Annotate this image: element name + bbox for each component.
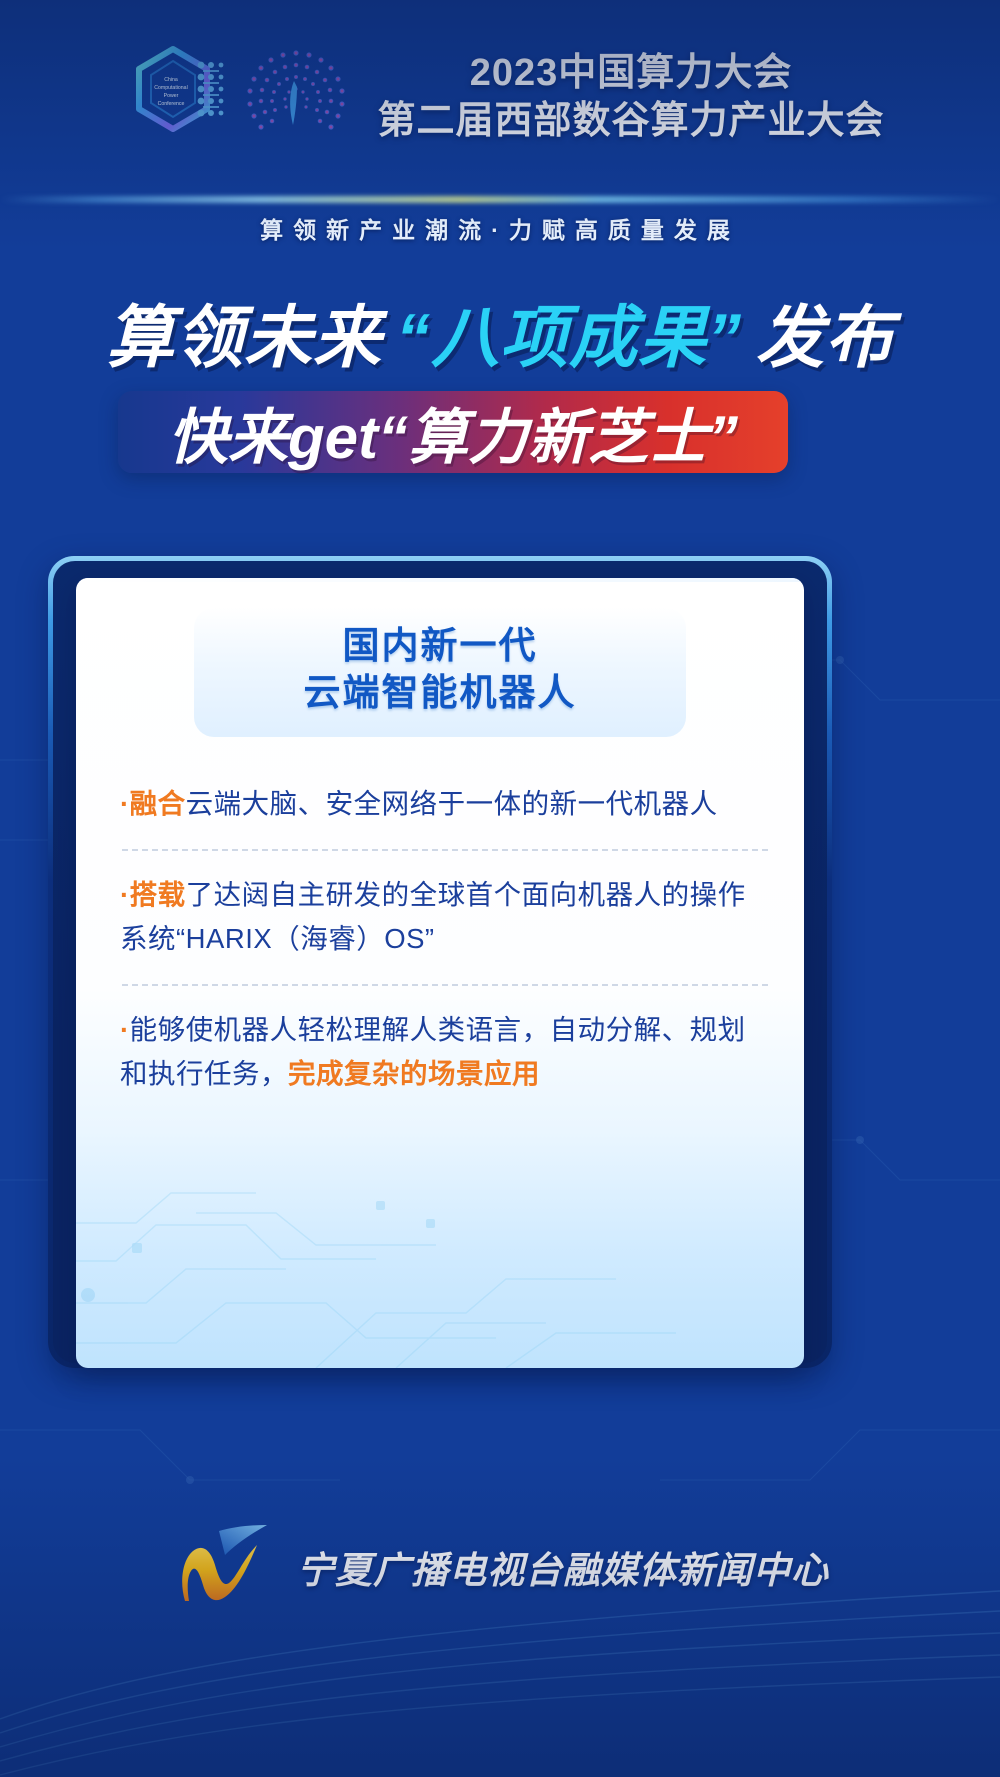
bullet-dot-1: · xyxy=(120,788,130,819)
headline-part-1: 算领未来 xyxy=(106,282,382,381)
card-title-line1: 国内新一代 xyxy=(194,622,686,669)
bullet-item-3: ·能够使机器人轻松理解人类语言，自动分解、规划和执行任务，完成复杂的场景应用 xyxy=(120,986,770,1119)
bullet-dot-2: · xyxy=(120,879,130,910)
headline-row-2-wrapper: 快来get“算力新芝士” xyxy=(118,391,788,473)
bullet-item-2: ·搭载了达闼自主研发的全球首个面向机器人的操作系统“HARIX（海睿）OS” xyxy=(120,851,770,984)
headline-part-3: 发布 xyxy=(756,282,894,381)
card-title-line2: 云端智能机器人 xyxy=(194,669,686,716)
slogan-glow-line xyxy=(0,196,1000,203)
bullet-text-2: 了达闼自主研发的全球首个面向机器人的操作系统“HARIX（海睿）OS” xyxy=(120,879,746,953)
slogan-bar: 算领新产业潮流·力赋高质量发展 xyxy=(0,196,1000,252)
card-title-pill: 国内新一代 云端智能机器人 xyxy=(194,608,686,737)
masthead-title-line1: 2023中国算力大会 xyxy=(470,50,793,98)
bullet-text-1: 云端大脑、安全网络于一体的新一代机器人 xyxy=(186,788,718,819)
bullet-highlight-1: 融合 xyxy=(130,788,186,819)
result-card: 国内新一代 云端智能机器人 ·融合云端大脑、安全网络于一体的新一代机器人 ·搭载… xyxy=(76,578,804,1368)
masthead: China Computational Power Conference xyxy=(0,0,1000,195)
bullet-item-1: ·融合云端大脑、安全网络于一体的新一代机器人 xyxy=(120,760,770,849)
svg-text:Conference: Conference xyxy=(158,101,185,107)
china-computational-power-conference-logo: China Computational Power Conference xyxy=(115,39,233,157)
masthead-title: 2023中国算力大会 第二届西部数谷算力产业大会 xyxy=(377,50,884,145)
svg-text:Computational: Computational xyxy=(155,85,188,91)
masthead-title-line2: 第二届西部数谷算力产业大会 xyxy=(377,98,884,146)
ningxia-tv-n-logo xyxy=(171,1525,279,1609)
card-bullet-list: ·融合云端大脑、安全网络于一体的新一代机器人 ·搭载了达闼自主研发的全球首个面向… xyxy=(120,760,770,1119)
poster-background: China Computational Power Conference xyxy=(0,0,1000,1777)
footer: 宁夏广播电视台融媒体新闻中心 xyxy=(0,1477,1000,1777)
data-fan-logo xyxy=(237,39,355,157)
bullet-highlight-3: 完成复杂的场景应用 xyxy=(288,1058,540,1089)
headline-row-1: 算领未来 “八项成果” 发布 xyxy=(0,283,1000,379)
bullet-highlight-2: 搭载 xyxy=(130,879,186,910)
card-tech-pattern xyxy=(76,1183,804,1368)
headline-part-2: “八项成果” xyxy=(396,282,742,381)
headline-row-2: 快来get“算力新芝士” xyxy=(118,391,788,473)
masthead-logos: China Computational Power Conference xyxy=(115,39,355,157)
bullet-dot-3: · xyxy=(120,1014,130,1045)
svg-text:China: China xyxy=(165,77,179,83)
card-top-line xyxy=(76,578,804,582)
svg-text:Power: Power xyxy=(164,93,179,99)
slogan-text: 算领新产业潮流·力赋高质量发展 xyxy=(0,208,1000,248)
headline: 算领未来 “八项成果” 发布 快来get“算力新芝士” xyxy=(0,283,1000,513)
footer-text: 宁夏广播电视台融媒体新闻中心 xyxy=(297,1540,829,1594)
footer-brand: 宁夏广播电视台融媒体新闻中心 xyxy=(171,1525,829,1609)
